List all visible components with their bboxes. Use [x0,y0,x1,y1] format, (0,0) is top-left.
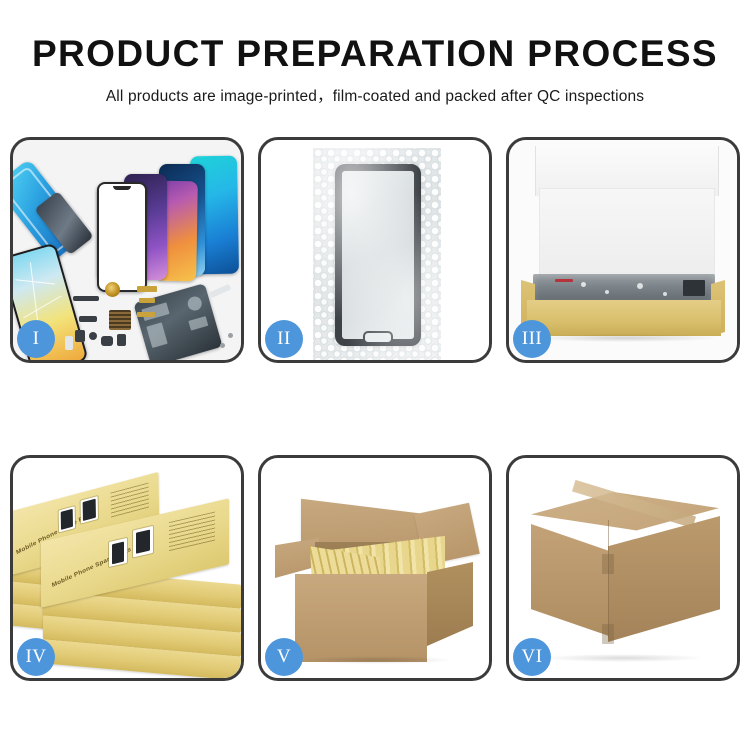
button-flex-part-icon [137,286,157,292]
connector-grid-part-icon [109,310,131,330]
antenna-flex-part-icon [137,312,155,317]
box-art-thumbnail [109,538,127,567]
screen-connector-icon [683,280,705,296]
box-front-panel-icon [527,300,721,336]
ribbon-part-icon [79,316,97,322]
box-interior-icon [539,188,715,276]
process-step-panel-2[interactable]: II [258,137,492,363]
camera-part-icon [75,330,85,342]
screw-small-2-part-icon [228,333,233,338]
coil-part-icon [105,282,120,297]
bubble-wrap-icon [313,148,441,360]
box-art-thumbnail [59,506,75,532]
carton-notch-2-icon [602,624,614,644]
page-title: PRODUCT PREPARATION PROCESS [0,34,750,75]
speaker-part-icon [101,336,113,346]
step-badge-4: IV [17,638,55,676]
box-art-thumbnail [133,526,153,558]
page-header: PRODUCT PREPARATION PROCESS All products… [0,0,750,106]
process-step-grid: I II [10,137,740,681]
flex-cable-part-icon [73,296,99,301]
battery-connector-part-icon [117,334,126,346]
screw-part-icon [89,332,97,340]
carton-shadow [301,656,451,664]
box-spec-lines [111,483,149,519]
carton-edge-line [608,520,609,638]
home-button-icon [363,331,393,344]
step-badge-5: V [265,638,303,676]
step-badge-6: VI [513,638,551,676]
step-badge-3: III [513,320,551,358]
phone-notch-icon [113,186,131,190]
process-step-panel-3[interactable]: III [506,137,740,363]
sealed-carton-shadow [543,654,703,662]
carton-notch-icon [602,554,614,574]
step-badge-2: II [265,320,303,358]
process-step-panel-6[interactable]: VI [506,455,740,681]
step-badge-1: I [17,320,55,358]
wrapped-screen-icon [335,164,421,346]
screw-small-part-icon [220,343,225,348]
process-step-panel-4[interactable]: Mobile Phone Spare Parts Mobile Phone Sp… [10,455,244,681]
box-art-thumbnail [81,496,98,523]
sim-tray-part-icon [65,336,73,350]
red-film-tab-icon [555,279,573,282]
carton-front-icon [295,574,427,662]
box-shadow [533,334,717,342]
volume-flex-part-icon [139,298,155,303]
page-subtitle: All products are image-printed，film-coat… [0,84,750,106]
screen-glass-icon [97,182,147,292]
process-step-panel-1[interactable]: I [10,137,244,363]
box-spec-lines [169,512,215,553]
process-step-panel-5[interactable]: V [258,455,492,681]
